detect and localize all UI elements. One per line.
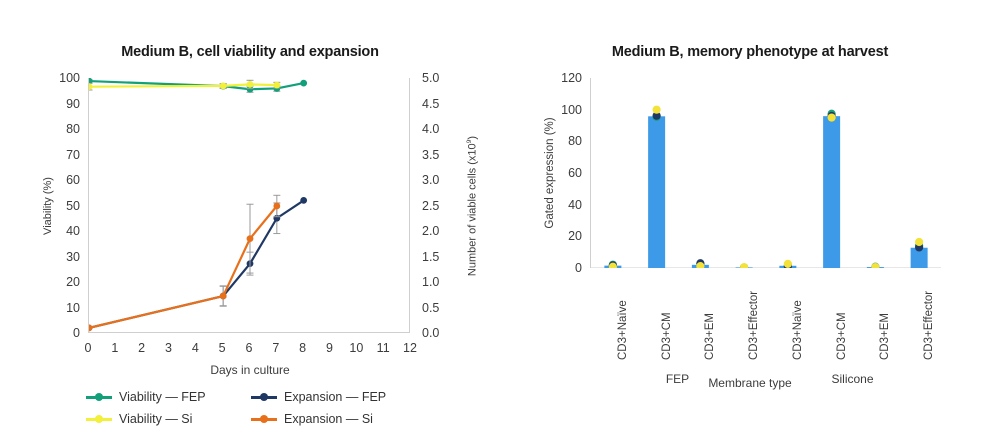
y-tick-right: 4.0 [422, 122, 439, 136]
series-point [247, 235, 254, 242]
category-label: CD3+Effector [923, 291, 935, 360]
plot-area-left [88, 78, 410, 333]
y-tick-right: 0.0 [422, 326, 439, 340]
y-tick-right: 5.0 [422, 71, 439, 85]
legend-left: Viability — FEPExpansion — FEPViability … [86, 390, 416, 426]
run-point [653, 106, 661, 114]
y-tick: 100 [542, 103, 582, 117]
y-tick-left: 0 [40, 326, 80, 340]
y-tick: 20 [542, 229, 582, 243]
viability-expansion-chart-panel: Medium B, cell viability and expansion V… [0, 0, 500, 448]
bar-series-svg [591, 78, 941, 268]
legend-label: Expansion — Si [284, 412, 373, 426]
series-point [89, 325, 92, 332]
series-point [247, 81, 254, 88]
legend-line-marker [251, 418, 277, 421]
category-label: CD3+CM [836, 312, 848, 360]
x-tick: 2 [138, 341, 145, 355]
y-tick-right: 1.0 [422, 275, 439, 289]
category-label: CD3+CM [661, 312, 673, 360]
y-tick-left: 100 [40, 71, 80, 85]
category-label: CD3+EM [879, 313, 891, 360]
y-tick-left: 80 [40, 122, 80, 136]
series-point [300, 197, 307, 204]
y-tick-left: 40 [40, 224, 80, 238]
y-tick-left: 70 [40, 148, 80, 162]
series-point [273, 82, 280, 89]
y-tick-left: 10 [40, 301, 80, 315]
chart-title-right: Medium B, memory phenotype at harvest [500, 44, 1000, 60]
x-tick: 1 [111, 341, 118, 355]
y-tick-right: 2.0 [422, 224, 439, 238]
y-tick-left: 20 [40, 275, 80, 289]
y-tick-right: 1.5 [422, 250, 439, 264]
legend-line-marker [251, 396, 277, 399]
series-line [89, 200, 304, 328]
run-point [828, 113, 836, 121]
legend-item: Viability — Si [86, 412, 251, 426]
run-point [740, 263, 748, 268]
series-point [300, 80, 307, 87]
legend-item: Viability — FEP [86, 390, 251, 404]
y-tick-right: 2.5 [422, 199, 439, 213]
category-label: CD3+EM [704, 313, 716, 360]
y-tick-right: 3.5 [422, 148, 439, 162]
y-tick-left: 90 [40, 97, 80, 111]
series-point [220, 83, 227, 90]
x-tick: 3 [165, 341, 172, 355]
bar-mean [648, 116, 665, 268]
line-series-svg [89, 78, 411, 333]
y-axis-title-right: Number of viable cells (x109) [466, 135, 479, 275]
category-label: CD3+Naïve [617, 300, 629, 360]
x-tick: 4 [192, 341, 199, 355]
run-point [915, 238, 923, 246]
legend-line-marker [86, 418, 112, 421]
x-tick: 10 [349, 341, 363, 355]
y-tick: 80 [542, 134, 582, 148]
y-tick: 120 [542, 71, 582, 85]
y-tick-left: 60 [40, 173, 80, 187]
x-tick: 8 [299, 341, 306, 355]
memory-phenotype-chart-panel: Medium B, memory phenotype at harvest Ga… [500, 0, 1000, 448]
legend-label: Expansion — FEP [284, 390, 386, 404]
legend-label: Viability — FEP [119, 390, 206, 404]
y-tick: 0 [542, 261, 582, 275]
x-tick: 6 [246, 341, 253, 355]
legend-label: Viability — Si [119, 412, 192, 426]
y-tick: 60 [542, 166, 582, 180]
run-point [871, 263, 879, 268]
x-tick: 9 [326, 341, 333, 355]
y-tick-right: 0.5 [422, 301, 439, 315]
series-point [89, 83, 92, 90]
y-tick: 40 [542, 198, 582, 212]
x-axis-label-membrane-type: Membrane type [500, 376, 1000, 390]
category-label: CD3+Naïve [792, 300, 804, 360]
y-tick-left: 50 [40, 199, 80, 213]
x-tick: 11 [377, 341, 390, 355]
x-axis-label: Days in culture [0, 363, 500, 377]
legend-item: Expansion — Si [251, 412, 416, 426]
x-tick: 7 [272, 341, 279, 355]
y-tick-right: 3.0 [422, 173, 439, 187]
run-point [784, 260, 792, 268]
legend-item: Expansion — FEP [251, 390, 416, 404]
legend-line-marker [86, 396, 112, 399]
series-point [220, 293, 227, 300]
category-label: CD3+Effector [748, 291, 760, 360]
x-tick: 0 [85, 341, 92, 355]
x-tick: 5 [219, 341, 226, 355]
y-tick-left: 30 [40, 250, 80, 264]
series-point [273, 203, 280, 210]
y-tick-right: 4.5 [422, 97, 439, 111]
x-tick: 12 [403, 341, 417, 355]
bar-mean [823, 116, 840, 268]
chart-title-left: Medium B, cell viability and expansion [0, 44, 500, 60]
plot-area-right [590, 78, 940, 268]
